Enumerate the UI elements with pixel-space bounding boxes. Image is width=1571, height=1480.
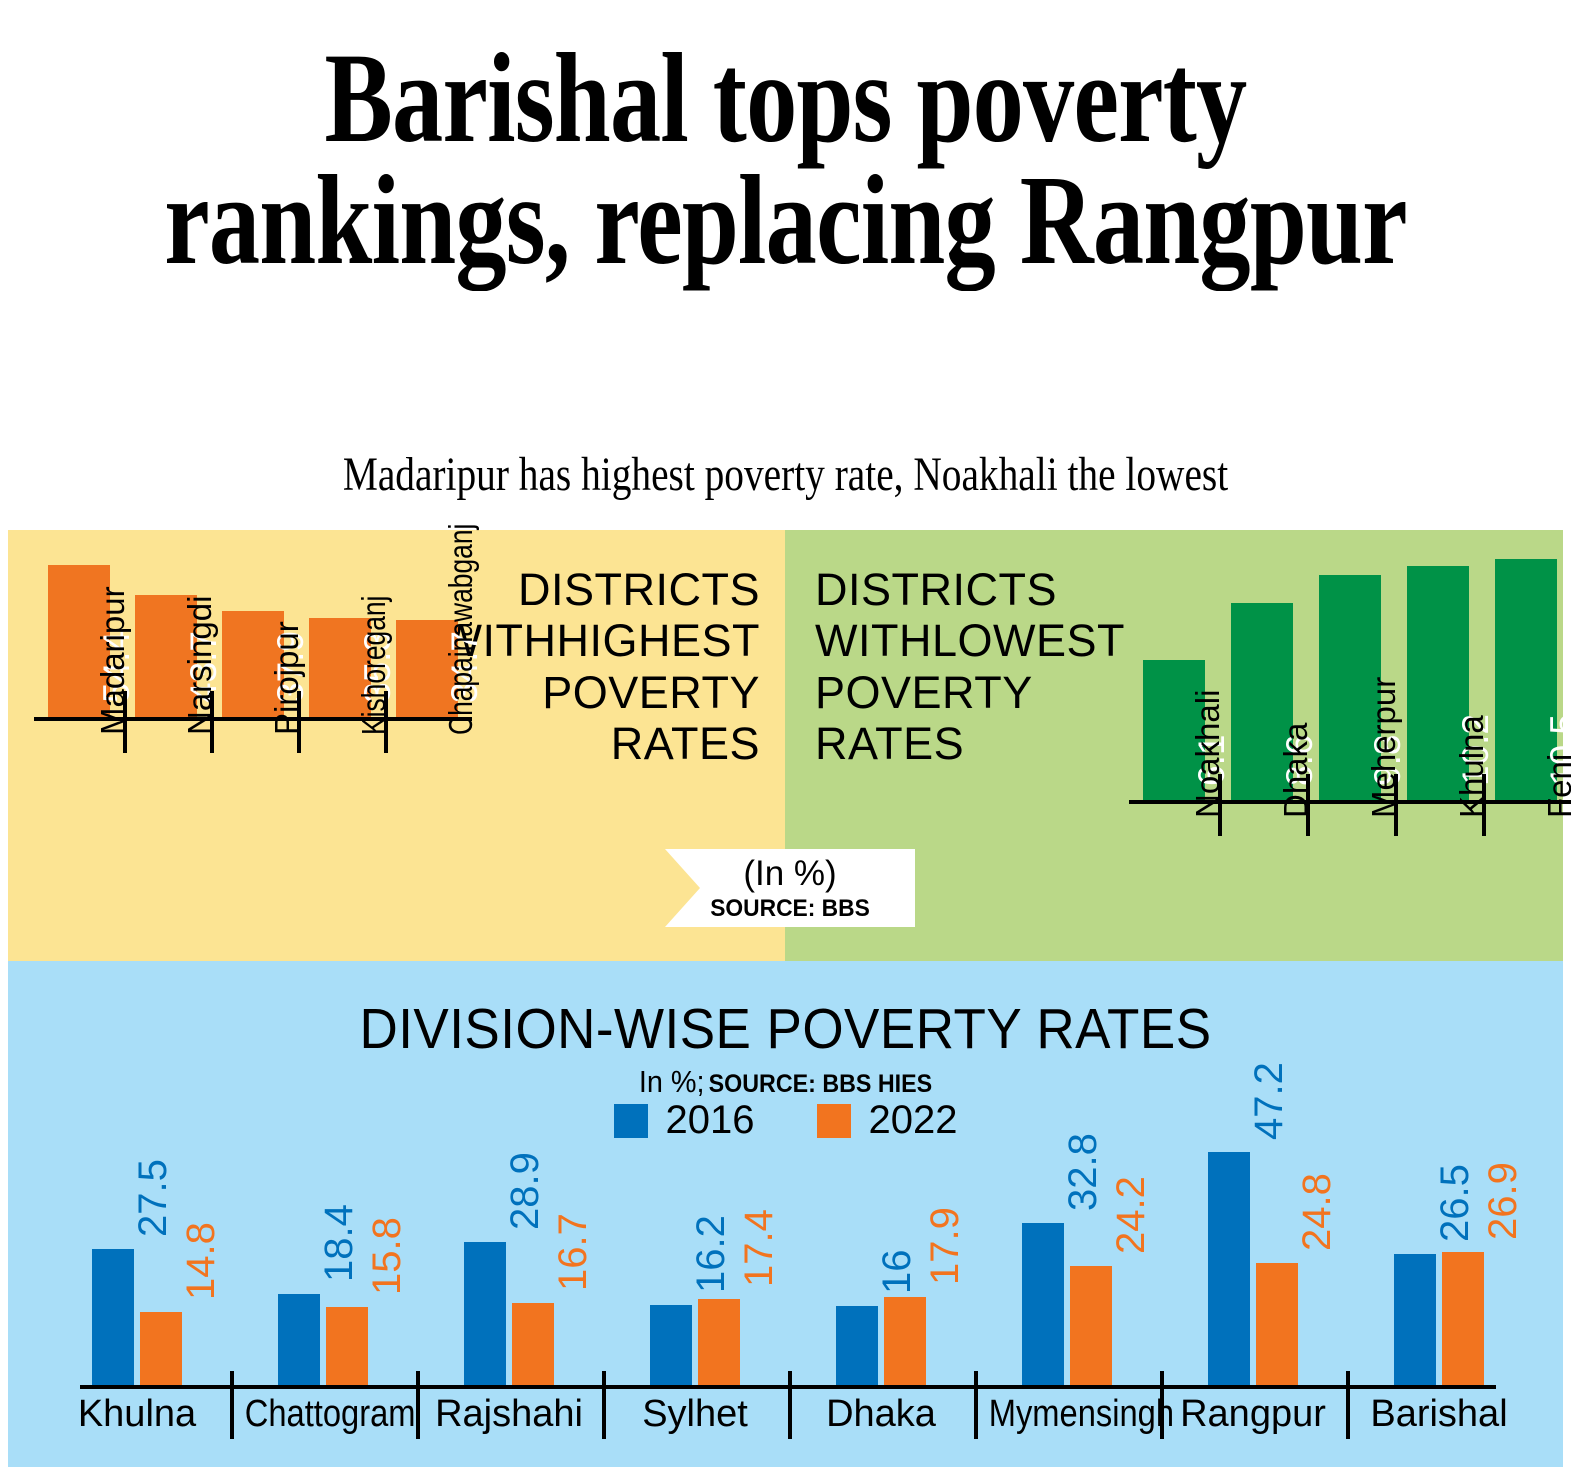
axis-tick (123, 691, 127, 753)
bar-2016-rajshahi (464, 1242, 506, 1385)
category-label-khulna: Khulna (46, 1393, 228, 1436)
category-label-feni: Feni (1541, 754, 1571, 818)
source-ribbon: (In %) SOURCE: BBS (665, 849, 915, 927)
bar-value-2016-barishal: 26.5 (1433, 1164, 1478, 1242)
bar-2016-barishal (1394, 1254, 1436, 1385)
division-chart-title: DIVISION-WISE POVERTY RATES (55, 996, 1516, 1062)
legend-swatch-icon-2016 (614, 1104, 648, 1138)
bar-2016-khulna (92, 1249, 134, 1385)
category-label-dhaka: Dhaka (790, 1393, 972, 1436)
page-title: Barishal tops poverty rankings, replacin… (157, 38, 1414, 281)
bar-value-2022-mymensingh: 24.2 (1109, 1176, 1154, 1254)
bar-value-2022-rangpur: 24.8 (1295, 1173, 1340, 1251)
category-label-rajshahi: Rajshahi (418, 1393, 600, 1436)
category-label-rangpur: Rangpur (1162, 1393, 1344, 1436)
category-label-sylhet: Sylhet (604, 1393, 786, 1436)
bar-value-2022-khulna: 14.8 (179, 1222, 224, 1300)
axis-tick (230, 1371, 234, 1439)
bar-2022-dhaka (884, 1297, 926, 1385)
category-label-chapainawabganj: Chapainawabganj (442, 524, 480, 735)
axis-tick (1218, 774, 1222, 836)
legend-item-2022[interactable]: 2022 (817, 1098, 958, 1143)
bar-2016-dhaka (836, 1306, 878, 1385)
axis-tick (1306, 774, 1310, 836)
axis-tick (297, 691, 301, 753)
bar-value-2016-chattogram: 18.4 (317, 1204, 362, 1282)
bar-2022-barishal (1442, 1252, 1484, 1385)
bar-value-2016-rajshahi: 28.9 (503, 1152, 548, 1230)
axis-tick (384, 691, 388, 753)
bar-2016-rangpur (1208, 1152, 1250, 1385)
bar-2022-chattogram (326, 1307, 368, 1385)
bar-2022-khulna (140, 1312, 182, 1385)
division-source-label: SOURCE: BBS HIES (709, 1070, 932, 1098)
category-label-mymensingh: Mymensingh (989, 1393, 1146, 1436)
division-legend: 2016 2022 (0, 1098, 1571, 1143)
division-unit-label: In %; (639, 1064, 705, 1099)
axis-tick (1394, 774, 1398, 836)
bar-value-2022-dhaka: 17.9 (923, 1207, 968, 1285)
legend-label-2016: 2016 (666, 1098, 755, 1143)
ribbon-unit-label: (In %) (743, 856, 836, 891)
legend-swatch-icon-2022 (817, 1104, 851, 1138)
ribbon-source-label: SOURCE: BBS (710, 897, 870, 921)
division-chart-subtitle: In %; SOURCE: BBS HIES (55, 1064, 1516, 1100)
legend-item-2016[interactable]: 2016 (614, 1098, 755, 1143)
bar-value-2016-dhaka: 16 (875, 1250, 920, 1295)
bar-value-2016-mymensingh: 32.8 (1061, 1133, 1106, 1211)
bar-2016-sylhet (650, 1305, 692, 1385)
bar-value-2022-chattogram: 15.8 (365, 1217, 410, 1295)
axis-tick (1482, 774, 1486, 836)
bar-2022-mymensingh (1070, 1266, 1112, 1385)
bar-value-2022-sylhet: 17.4 (737, 1209, 782, 1287)
legend-label-2022: 2022 (869, 1098, 958, 1143)
axis-tick (974, 1371, 978, 1439)
bar-value-2022-barishal: 26.9 (1481, 1162, 1526, 1240)
heading-lowest-poverty: DISTRICTS WITHLOWEST POVERTY RATES (815, 564, 1175, 769)
category-label-barishal: Barishal (1348, 1393, 1530, 1436)
bar-2022-sylhet (698, 1299, 740, 1385)
bar-value-2016-khulna: 27.5 (131, 1159, 176, 1237)
bar-2016-mymensingh (1022, 1223, 1064, 1385)
page-subtitle: Madaripur has highest poverty rate, Noak… (141, 447, 1429, 502)
axis-tick (210, 691, 214, 753)
bar-value-2022-rajshahi: 16.7 (551, 1213, 596, 1291)
bar-2022-rajshahi (512, 1303, 554, 1385)
bar-2016-chattogram (278, 1294, 320, 1385)
bar-value-2016-sylhet: 16.2 (689, 1215, 734, 1293)
category-label-chattogram: Chattogram (245, 1393, 402, 1436)
bar-value-2016-rangpur: 47.2 (1247, 1062, 1292, 1140)
bar-2022-rangpur (1256, 1263, 1298, 1385)
